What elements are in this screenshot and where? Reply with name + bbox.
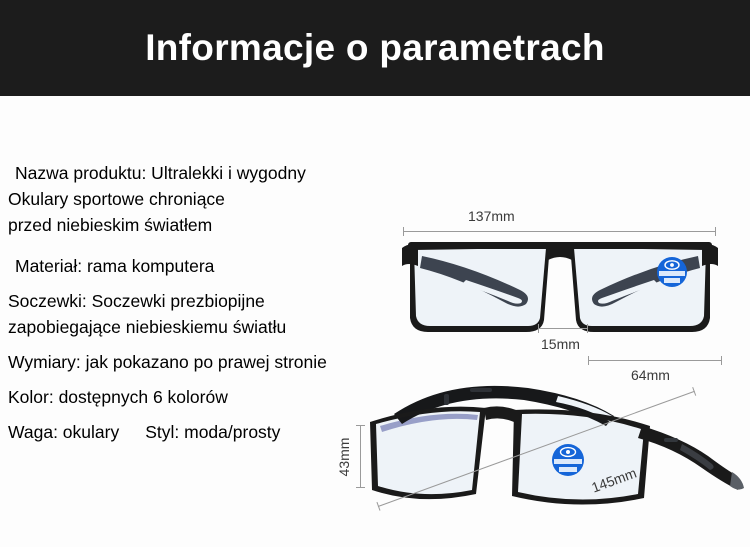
- dimension-label-bridge-width: 15mm: [541, 336, 580, 352]
- glasses-front-view: [400, 240, 720, 345]
- product-images-area: 137mm: [330, 200, 750, 540]
- dimension-label-lens-height: 43mm: [336, 434, 352, 480]
- dimension-label-total-width: 137mm: [468, 208, 515, 224]
- blue-light-sticker-front: [657, 257, 687, 287]
- header-banner: Informacje o parametrach: [0, 0, 750, 96]
- dimension-line-total-width: [403, 231, 716, 232]
- glasses-angled-view: [352, 382, 750, 547]
- blue-light-sticker-angled: [552, 444, 584, 476]
- spec-style: Styl: moda/prosty: [145, 419, 280, 445]
- spec-product-name: Nazwa produktu: Ultralekki i wygodny: [8, 160, 400, 186]
- dimension-line-bridge-width: [538, 328, 588, 329]
- page-title: Informacje o parametrach: [145, 27, 605, 69]
- dimension-line-lens-width: [588, 360, 722, 361]
- dimension-label-lens-width: 64mm: [631, 367, 670, 383]
- spec-weight: Waga: okulary: [8, 419, 119, 445]
